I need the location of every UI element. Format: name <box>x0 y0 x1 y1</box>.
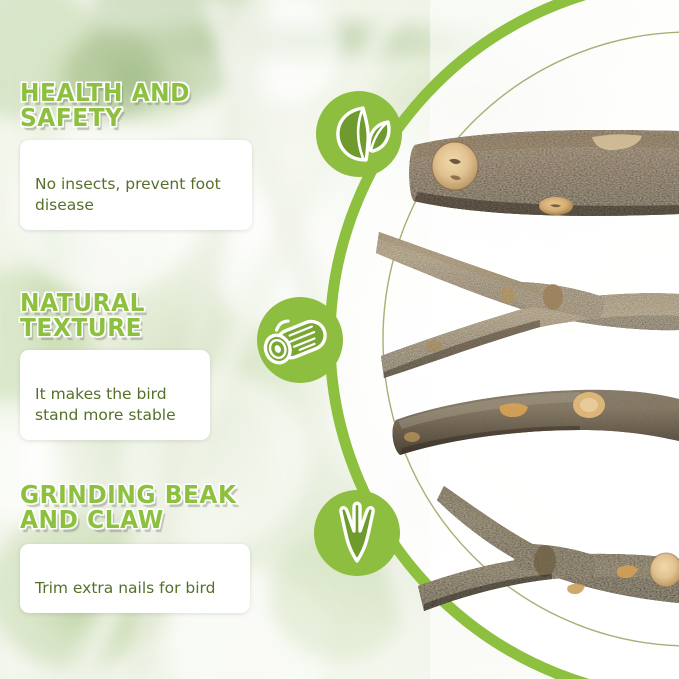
feature-description-health-and-safety: No insects, prevent foot disease <box>35 175 221 214</box>
product-image-branch-forked-lower <box>418 486 679 611</box>
feature-block-health-and-safety: HEALTH AND SAFETY No insects, prevent fo… <box>20 80 280 230</box>
feature-badge-health-and-safety <box>311 86 407 182</box>
feature-description-grinding-beak-and-claw: Trim extra nails for bird <box>35 579 215 597</box>
product-image-branch-thick-straight <box>409 130 679 216</box>
feature-badge-natural-texture <box>252 292 348 388</box>
feature-block-grinding-beak-and-claw: GRINDING BEAK AND CLAW Trim extra nails … <box>20 482 300 613</box>
infographic-canvas: HEALTH AND SAFETY No insects, prevent fo… <box>0 0 679 679</box>
product-image-branch-tapered <box>393 390 679 455</box>
feature-block-natural-texture: NATURAL TEXTURE It makes the bird stand … <box>20 290 280 440</box>
feature-card-grinding-beak-and-claw: Trim extra nails for bird <box>20 544 250 613</box>
feature-heading-grinding-beak-and-claw: GRINDING BEAK AND CLAW <box>20 482 280 532</box>
feature-heading-natural-texture: NATURAL TEXTURE <box>20 290 262 340</box>
feature-card-health-and-safety: No insects, prevent foot disease <box>20 140 252 230</box>
feature-badge-grinding-beak-and-claw <box>309 485 405 581</box>
feature-card-natural-texture: It makes the bird stand more stable <box>20 350 210 440</box>
product-image-branch-forked-upper <box>376 232 679 378</box>
feature-heading-health-and-safety: HEALTH AND SAFETY <box>20 80 262 130</box>
feature-description-natural-texture: It makes the bird stand more stable <box>35 385 176 424</box>
